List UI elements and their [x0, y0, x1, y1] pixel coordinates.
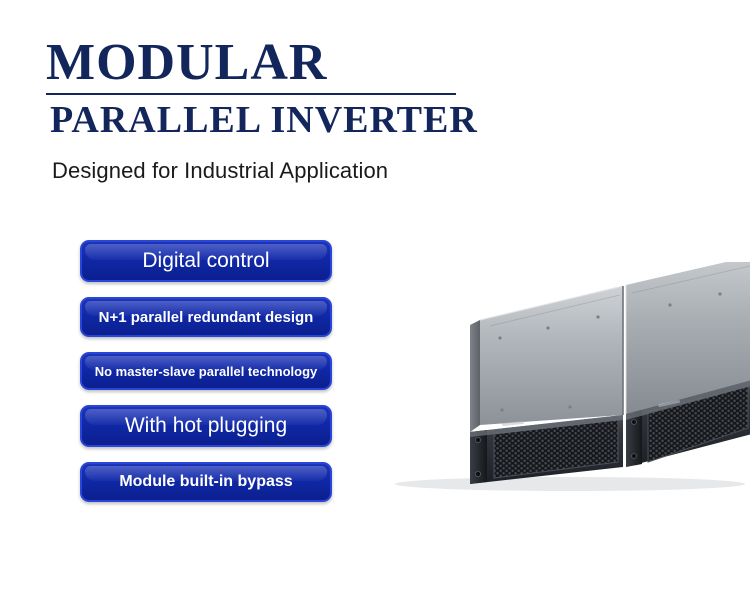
feature-pill-5-label: Module built-in bypass: [119, 473, 292, 491]
headline-block: MODULAR PARALLEL INVERTER: [46, 36, 506, 141]
feature-pill-5[interactable]: Module built-in bypass: [80, 462, 332, 502]
feature-pill-1[interactable]: Digital control: [80, 240, 332, 282]
headline-divider: [46, 93, 456, 95]
headline-line2: PARALLEL INVERTER: [46, 101, 506, 141]
headline-line1: MODULAR: [46, 36, 506, 89]
feature-pill-3-label: No master-slave parallel technology: [95, 364, 318, 379]
feature-pill-1-label: Digital control: [142, 249, 269, 273]
feature-pill-3[interactable]: No master-slave parallel technology: [80, 352, 332, 390]
tagline: Designed for Industrial Application: [52, 158, 388, 184]
product-image: [370, 262, 750, 492]
feature-pill-4[interactable]: With hot plugging: [80, 405, 332, 447]
feature-pill-4-label: With hot plugging: [125, 414, 287, 438]
feature-pill-2[interactable]: N+1 parallel redundant design: [80, 297, 332, 337]
feature-list: Digital control N+1 parallel redundant d…: [80, 240, 336, 517]
poster-root: MODULAR PARALLEL INVERTER Designed for I…: [0, 0, 750, 596]
feature-pill-2-label: N+1 parallel redundant design: [99, 309, 314, 326]
